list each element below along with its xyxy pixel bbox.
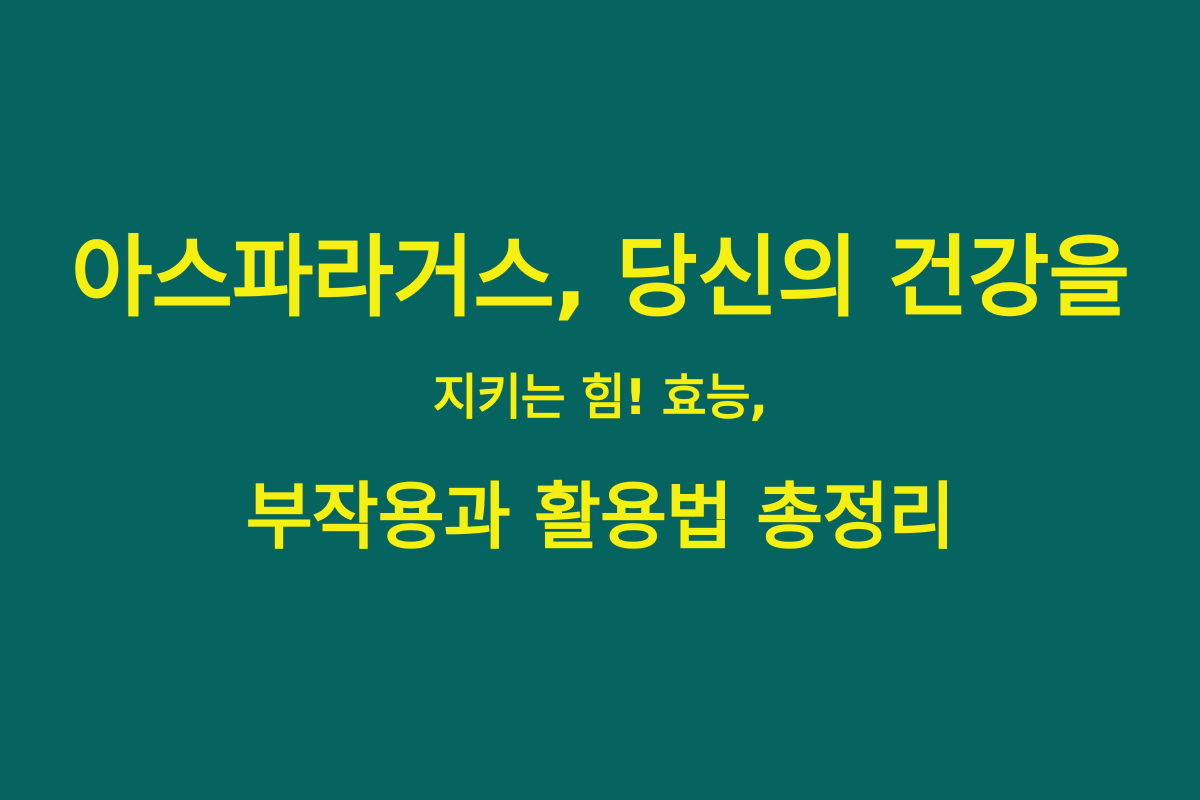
title-line-2: 지키는 힘! 효능, — [0, 338, 1200, 458]
title-line-1: 아스파라거스, 당신의 건강을 — [0, 218, 1200, 338]
title-card-banner: 아스파라거스, 당신의 건강을 지키는 힘! 효능, 부작용과 활용법 총정리 — [0, 0, 1200, 800]
page-title: 아스파라거스, 당신의 건강을 지키는 힘! 효능, 부작용과 활용법 총정리 — [0, 218, 1200, 578]
title-line-3: 부작용과 활용법 총정리 — [0, 458, 1200, 578]
